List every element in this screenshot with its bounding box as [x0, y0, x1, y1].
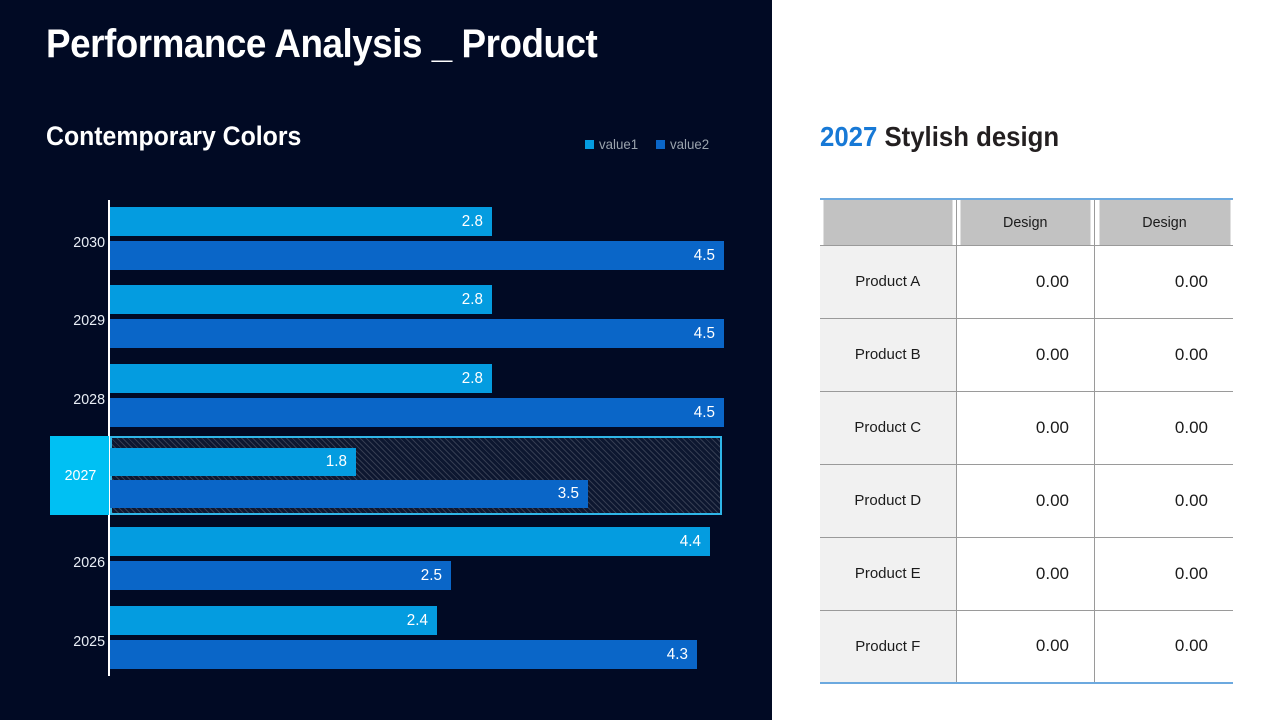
- chart-category-group-highlighted: 2027 1.8 3.5: [0, 432, 772, 516]
- table-cell-product-label: Product A: [820, 245, 956, 318]
- bar-value-label: 2.8: [462, 370, 492, 388]
- category-label-2026: 2026: [53, 554, 105, 571]
- bar-value1-2030[interactable]: 2.8: [110, 207, 492, 236]
- category-label-2027: 2027: [53, 467, 108, 484]
- table-header: Design Design: [820, 199, 1233, 245]
- table-row[interactable]: Product D 0.00 0.00: [820, 464, 1233, 537]
- chart-heading: Contemporary Colors: [46, 121, 301, 152]
- table-heading-text: Stylish design: [877, 121, 1059, 152]
- bar-value2-2028[interactable]: 4.5: [110, 398, 724, 427]
- table-cell-value-2: 0.00: [1095, 245, 1234, 318]
- table-cell-value-1: 0.00: [956, 610, 1095, 683]
- table-cell-value-1: 0.00: [956, 318, 1095, 391]
- table-body: Product A 0.00 0.00 Product B 0.00 0.00 …: [820, 245, 1233, 683]
- chart-category-group: 2026 4.4 2.5: [0, 516, 772, 595]
- chart-category-group: 2029 2.8 4.5: [0, 274, 772, 353]
- table-header-row: Design Design: [820, 199, 1233, 245]
- table-cell-value-1: 0.00: [956, 537, 1095, 610]
- bar-value1-2029[interactable]: 2.8: [110, 285, 492, 314]
- table-row[interactable]: Product F 0.00 0.00: [820, 610, 1233, 683]
- table-row[interactable]: Product B 0.00 0.00: [820, 318, 1233, 391]
- bar-value-label: 3.5: [558, 485, 588, 503]
- bar-value2-2029[interactable]: 4.5: [110, 319, 724, 348]
- table-heading-year: 2027: [820, 121, 877, 152]
- table-cell-product-label: Product C: [820, 391, 956, 464]
- slide-canvas: Performance Analysis _ Product Contempor…: [0, 0, 1280, 720]
- bar-value-label: 2.8: [462, 213, 492, 231]
- bar-value2-2030[interactable]: 4.5: [110, 241, 724, 270]
- bar-value2-2025[interactable]: 4.3: [110, 640, 697, 669]
- table-row[interactable]: Product A 0.00 0.00: [820, 245, 1233, 318]
- table-header-cell-design-1: Design: [959, 199, 1091, 245]
- table-cell-product-label: Product E: [820, 537, 956, 610]
- table-cell-value-1: 0.00: [956, 464, 1095, 537]
- bar-value2-2027[interactable]: 3.5: [110, 480, 588, 508]
- legend-swatch-icon: [656, 140, 665, 149]
- category-label-2030: 2030: [53, 234, 105, 251]
- category-label-2028: 2028: [53, 391, 105, 408]
- table-header-cell-blank: [823, 199, 952, 245]
- table-row[interactable]: Product E 0.00 0.00: [820, 537, 1233, 610]
- table-cell-value-2: 0.00: [1095, 391, 1234, 464]
- bar-value-label: 2.8: [462, 291, 492, 309]
- bar-value2-2026[interactable]: 2.5: [110, 561, 451, 590]
- table-cell-value-2: 0.00: [1095, 537, 1234, 610]
- page-title: Performance Analysis _ Product: [46, 22, 597, 67]
- chart-category-group: 2030 2.8 4.5: [0, 196, 772, 274]
- chart-category-group: 2028 2.8 4.5: [0, 353, 772, 432]
- bar-value1-2025[interactable]: 2.4: [110, 606, 437, 635]
- bar-value-label: 4.5: [694, 325, 724, 343]
- chart-legend: value1 value2: [585, 136, 712, 152]
- bar-value1-2028[interactable]: 2.8: [110, 364, 492, 393]
- table-panel: 2027 Stylish design Design Design Produc…: [772, 0, 1280, 720]
- bar-value-label: 4.3: [667, 646, 697, 664]
- product-data-table: Design Design Product A 0.00 0.00 Produc…: [820, 198, 1233, 684]
- bar-value-label: 2.4: [407, 612, 437, 630]
- table-header-cell-design-2: Design: [1098, 199, 1230, 245]
- bar-value1-2026[interactable]: 4.4: [110, 527, 710, 556]
- table-row[interactable]: Product C 0.00 0.00: [820, 391, 1233, 464]
- table-cell-value-1: 0.00: [956, 391, 1095, 464]
- category-label-2025: 2025: [53, 633, 105, 650]
- bar-value-label: 4.4: [680, 533, 710, 551]
- bar-value-label: 1.8: [326, 453, 356, 471]
- table-cell-product-label: Product F: [820, 610, 956, 683]
- bar-value-label: 4.5: [694, 247, 724, 265]
- table-cell-product-label: Product B: [820, 318, 956, 391]
- legend-swatch-icon: [585, 140, 594, 149]
- legend-label: value1: [599, 136, 638, 152]
- bar-value-label: 4.5: [694, 404, 724, 422]
- chart-panel: Performance Analysis _ Product Contempor…: [0, 0, 772, 720]
- table-cell-value-2: 0.00: [1095, 318, 1234, 391]
- bar-value1-2027[interactable]: 1.8: [110, 448, 356, 476]
- legend-label: value2: [670, 136, 709, 152]
- bar-chart: 2030 2.8 4.5 2029 2.8 4.5 20: [0, 196, 772, 686]
- table-heading: 2027 Stylish design: [820, 121, 1059, 153]
- table-cell-value-2: 0.00: [1095, 610, 1234, 683]
- table-cell-product-label: Product D: [820, 464, 956, 537]
- legend-item-value1[interactable]: value1: [585, 136, 640, 152]
- category-label-2029: 2029: [53, 312, 105, 329]
- table-cell-value-1: 0.00: [956, 245, 1095, 318]
- chart-category-group: 2025 2.4 4.3: [0, 595, 772, 674]
- table-cell-value-2: 0.00: [1095, 464, 1234, 537]
- legend-item-value2[interactable]: value2: [656, 136, 711, 152]
- bar-value-label: 2.5: [421, 567, 451, 585]
